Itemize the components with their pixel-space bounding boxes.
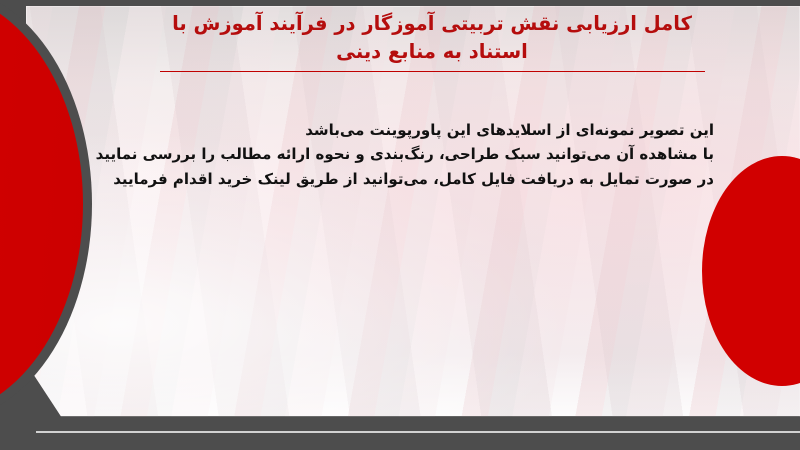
- slide-body-block: این تصویر نمونه‌ای از اسلایدهای این پاور…: [96, 118, 714, 191]
- slide-title-line-1: کامل ارزیابی نقش تربیتی آموزگار در فرآین…: [110, 10, 754, 38]
- slide-title-line-2: استناد به منابع دینی: [110, 38, 754, 66]
- title-underline-rule: [160, 71, 705, 72]
- right-red-circle-decoration: [702, 156, 800, 386]
- bottom-dark-band: [0, 432, 800, 450]
- presentation-slide: کامل ارزیابی نقش تربیتی آموزگار در فرآین…: [0, 0, 800, 450]
- body-line-3: در صورت تمایل به دریافت فایل کامل، می‌تو…: [96, 167, 714, 191]
- body-line-1: این تصویر نمونه‌ای از اسلایدهای این پاور…: [96, 118, 714, 142]
- slide-title-block: کامل ارزیابی نقش تربیتی آموزگار در فرآین…: [110, 10, 754, 72]
- body-line-2: با مشاهده آن می‌توانید سبک طراحی، رنگ‌بن…: [96, 142, 714, 166]
- bottom-highlight-line: [36, 431, 800, 433]
